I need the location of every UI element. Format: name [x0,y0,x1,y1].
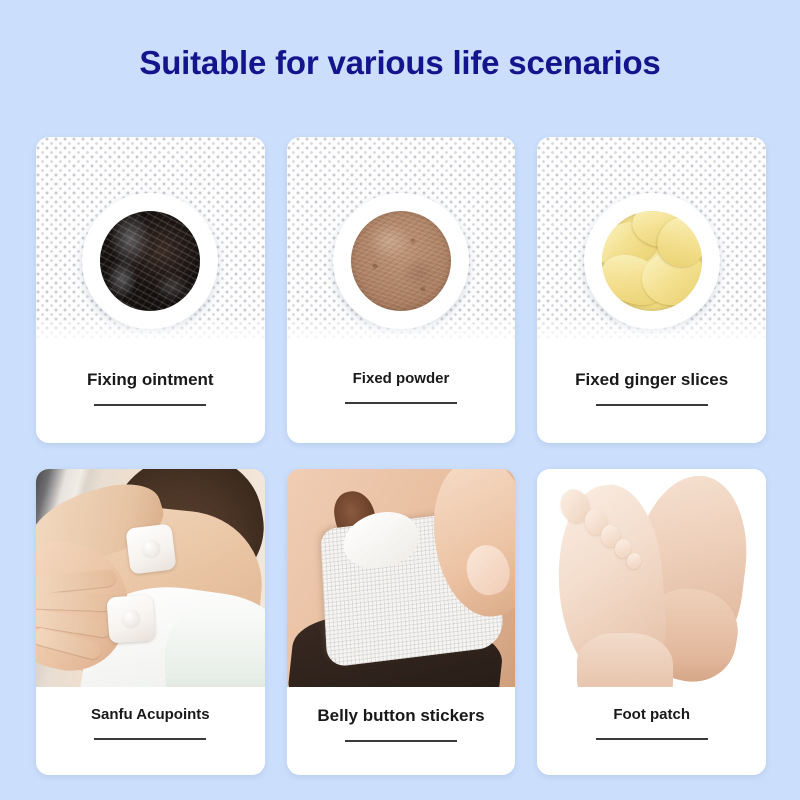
patch-disc [584,193,720,329]
caption-divider [345,740,457,742]
caption-divider [94,404,206,406]
scenario-card-fixed-powder[interactable]: Fixed powder [287,137,516,443]
card-label: Foot patch [613,707,690,724]
acupoint-patch [125,523,176,574]
scenario-card-foot-patch[interactable]: Foot patch [537,469,766,775]
photo-child-back-with-patches [36,469,265,687]
scenario-card-belly-button-stickers[interactable]: Belly button stickers [287,469,516,775]
ginger-slices-substance-icon [602,211,702,311]
caption-divider [345,402,457,404]
card-label: Fixed ginger slices [575,371,728,390]
card-label: Sanfu Acupoints [91,707,210,724]
patch-disc [333,193,469,329]
caption-divider [596,738,708,740]
non-woven-texture-background [287,137,516,349]
card-label: Fixing ointment [87,371,214,390]
scenario-card-sanfu-acupoints[interactable]: Sanfu Acupoints [36,469,265,775]
scenario-card-fixed-ginger-slices[interactable]: Fixed ginger slices [537,137,766,443]
white-shirt-collar [165,607,265,687]
caption-divider [596,404,708,406]
photo-navel-with-herbal-powder-and-patch [287,469,516,687]
page-title: Suitable for various life scenarios [0,44,800,82]
ointment-substance-icon [100,211,200,311]
infographic-page: Suitable for various life scenarios Fixi… [0,0,800,800]
patch-disc [82,193,218,329]
card-caption: Fixed ginger slices [537,355,766,443]
ankle [577,633,673,687]
caption-divider [94,738,206,740]
card-caption: Sanfu Acupoints [36,687,265,775]
powder-substance-icon [351,211,451,311]
non-woven-texture-background [36,137,265,349]
photo-bare-feet [537,469,766,687]
non-woven-texture-background [537,137,766,349]
card-label: Fixed powder [353,371,450,388]
card-caption: Foot patch [537,687,766,775]
card-caption: Fixed powder [287,355,516,443]
card-label: Belly button stickers [317,707,484,726]
card-caption: Belly button stickers [287,687,516,775]
scenario-card-fixing-ointment[interactable]: Fixing ointment [36,137,265,443]
scenario-card-grid: Fixing ointment Fixed powder [36,137,766,775]
acupoint-patch [106,594,155,643]
card-caption: Fixing ointment [36,355,265,443]
